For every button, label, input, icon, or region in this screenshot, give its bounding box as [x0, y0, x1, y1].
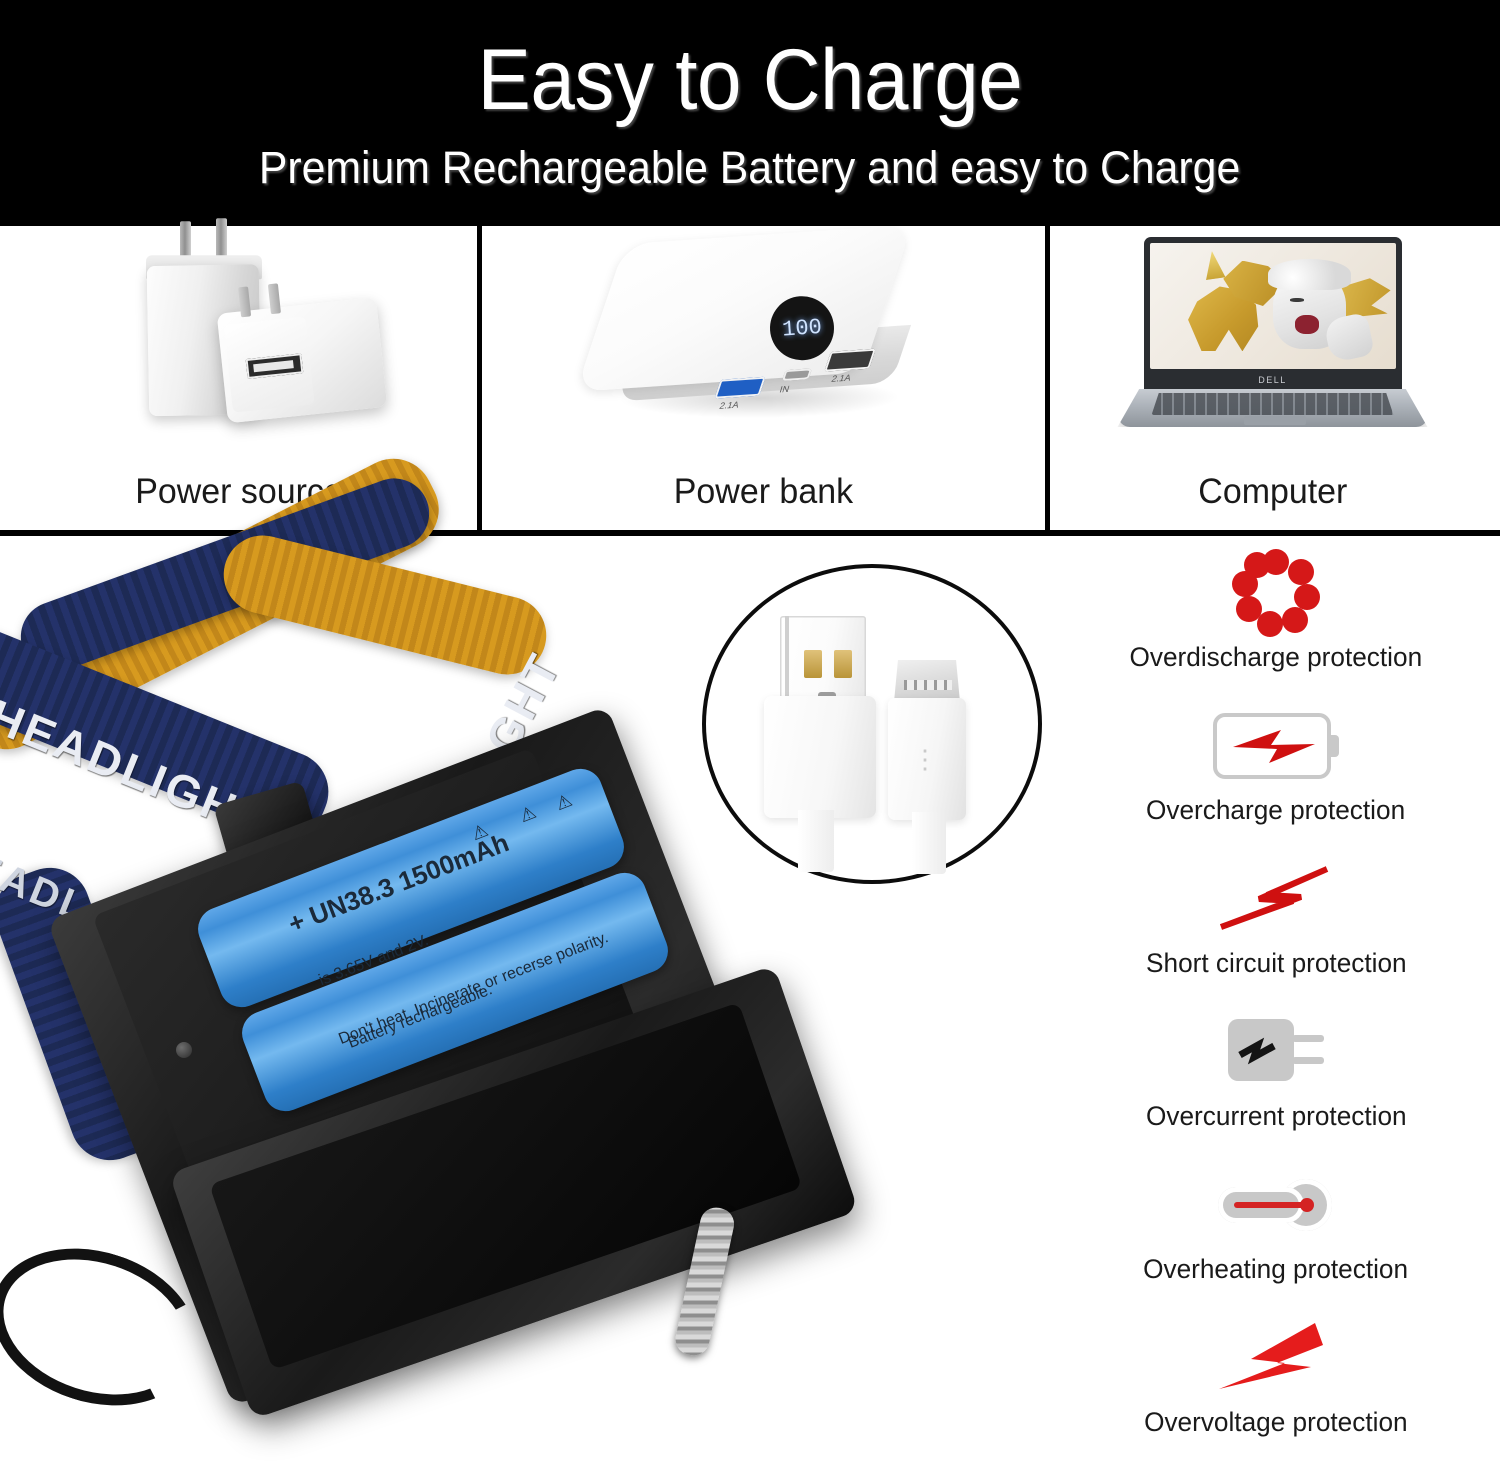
usb-a-pin-2	[834, 650, 852, 678]
woman-hair-shape	[1268, 259, 1352, 289]
bolt-outline-icon	[1215, 856, 1337, 942]
usb-a-port-icon	[245, 353, 303, 379]
power-bank-usb-port-2	[824, 349, 876, 372]
charging-sources-row: Power source 100 2.1A IN 2.1A	[0, 226, 1500, 530]
charger-body-front	[216, 297, 387, 423]
usb-trident-icon: ⋮	[912, 744, 940, 774]
protection-label-overdischarge: Overdischarge protection	[1130, 642, 1423, 673]
thermometer-mercury-dot	[1300, 1198, 1314, 1212]
panel-power-bank: 100 2.1A IN 2.1A Power bank	[477, 226, 1050, 530]
bolt-solid-icon	[1215, 1315, 1337, 1401]
protection-item-overvoltage: Overvoltage protection	[1052, 1315, 1500, 1468]
header-banner: Easy to Charge Premium Rechargeable Batt…	[0, 0, 1500, 226]
thermometer-mercury	[1234, 1202, 1306, 1208]
battery-bolt-icon	[1213, 703, 1339, 789]
led-display-value: 100	[781, 314, 822, 342]
usb-wall-charger-icon	[0, 226, 477, 472]
protection-features-list: Overdischarge protection Overcharge prot…	[1052, 550, 1500, 1470]
panel-computer: DELL Computer	[1050, 226, 1495, 530]
charger-front-face	[223, 317, 314, 413]
protection-label-overheating: Overheating protection	[1144, 1254, 1409, 1285]
usb-to-micro-usb-cable-icon: ⋮	[702, 564, 1042, 884]
dell-logo: DELL	[1258, 375, 1287, 385]
protection-item-short-circuit: Short circuit protection	[1052, 856, 1500, 1009]
woman-eye-shape	[1290, 298, 1305, 302]
woman-mouth-shape	[1295, 315, 1320, 334]
bottom-section: HEADLIGH EADL GHT ⚠ ⚠ ⚠ + UN38.3 1500mAh…	[0, 536, 1500, 1482]
laptop-wallpaper	[1150, 243, 1396, 369]
headlamp-product-photo: HEADLIGH EADL GHT ⚠ ⚠ ⚠ + UN38.3 1500mAh…	[0, 536, 700, 1482]
laptop-screen: DELL	[1144, 237, 1402, 391]
protection-item-overheating: Overheating protection	[1052, 1162, 1500, 1315]
protection-item-overcharge: Overcharge protection	[1052, 703, 1500, 856]
plug-prong-upper	[1292, 1035, 1324, 1042]
plug-bolt-glyph	[1228, 1019, 1294, 1081]
plug-bolt-icon	[1228, 1009, 1324, 1095]
power-bank-usb-port-1	[714, 377, 765, 399]
infographic-page: Easy to Charge Premium Rechargeable Batt…	[0, 0, 1500, 1482]
bolt-outline-glyph	[1215, 861, 1337, 937]
plug-prong-front-right	[267, 283, 280, 314]
page-title: Easy to Charge	[478, 37, 1023, 123]
laptop-bezel-chin: DELL	[1144, 371, 1402, 389]
plug-prong-lower	[1292, 1057, 1324, 1064]
lightning-bolt-icon	[1213, 713, 1339, 779]
protection-item-overdischarge: Overdischarge protection	[1052, 550, 1500, 703]
protection-item-overcurrent: Overcurrent protection	[1052, 1009, 1500, 1162]
circle-ring-icon	[1232, 550, 1320, 636]
protection-label-overcharge: Overcharge protection	[1146, 795, 1405, 826]
usb-a-pin-1	[804, 650, 822, 678]
protection-label-short-circuit: Short circuit protection	[1146, 948, 1407, 979]
bolt-solid-glyph	[1215, 1319, 1337, 1397]
housing-screw-1	[176, 1042, 192, 1058]
micro-usb-cord	[912, 812, 946, 874]
usb-a-connector-housing	[764, 696, 876, 818]
laptop-trackpad	[1244, 416, 1306, 425]
power-bank-port-label-1: 2.1A	[718, 400, 740, 411]
laptop-computer-icon: DELL	[1050, 226, 1495, 472]
usb-a-cord	[798, 810, 834, 872]
panel-label-power-bank: Power bank	[674, 472, 853, 530]
power-bank-port-label-2: 2.1A	[830, 373, 852, 384]
power-bank-icon: 100 2.1A IN 2.1A	[482, 226, 1045, 472]
unicorn-horn-shape	[1202, 249, 1225, 279]
protection-label-overvoltage: Overvoltage protection	[1144, 1407, 1408, 1438]
plug-prong-right	[216, 218, 227, 260]
protection-label-overcurrent: Overcurrent protection	[1146, 1101, 1407, 1132]
panel-label-computer: Computer	[1198, 472, 1347, 530]
page-subtitle: Premium Rechargeable Battery and easy to…	[259, 145, 1240, 190]
micro-usb-pins	[904, 680, 952, 690]
laptop-keyboard	[1152, 393, 1394, 415]
thermometer-icon	[1218, 1162, 1334, 1248]
